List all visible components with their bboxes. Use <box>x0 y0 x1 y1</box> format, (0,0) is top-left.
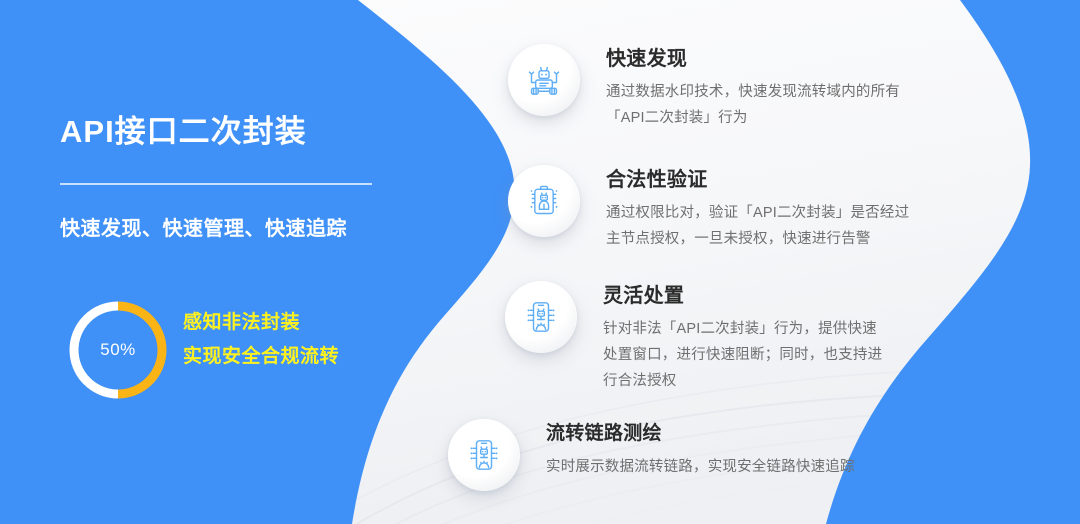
feature-desc-line: 行合法授权 <box>603 368 882 394</box>
feature-body: 快速发现 通过数据水印技术，快速发现流转域内的所有 「API二次封装」行为 <box>606 44 900 131</box>
feature-item[interactable]: 灵活处置 针对非法「API二次封装」行为，提供快速 处置窗口，进行快速阻断；同时… <box>505 281 882 394</box>
clipboard-robot-icon <box>508 165 580 237</box>
feature-desc-line: 通过权限比对，验证「API二次封装」是否经过 <box>606 200 909 226</box>
feature-item[interactable]: 流转链路测绘 实时展示数据流转链路，实现安全链路快速追踪 <box>448 419 855 491</box>
feature-desc-line: 实时展示数据流转链路，实现安全链路快速追踪 <box>546 454 855 480</box>
device-robot-link-icon <box>448 419 520 491</box>
feature-desc: 通过数据水印技术，快速发现流转域内的所有 「API二次封装」行为 <box>606 79 900 131</box>
device-robot-gear-icon <box>505 281 577 353</box>
feature-body: 流转链路测绘 实时展示数据流转链路，实现安全链路快速追踪 <box>546 419 855 480</box>
feature-title: 快速发现 <box>606 46 900 72</box>
feature-desc: 针对非法「API二次封装」行为，提供快速 处置窗口，进行快速阻断；同时，也支持进… <box>603 316 882 394</box>
slide-root: API接口二次封装 快速发现、快速管理、快速追踪 50% 感知非法封装 实现安全… <box>0 0 1080 524</box>
feature-desc-line: 「API二次封装」行为 <box>606 105 900 131</box>
feature-desc-line: 处置窗口，进行快速阻断；同时，也支持进 <box>603 342 882 368</box>
feature-title: 流转链路测绘 <box>546 421 855 447</box>
feature-title: 灵活处置 <box>603 283 882 309</box>
feature-desc: 通过权限比对，验证「API二次封装」是否经过 主节点授权，一旦未授权，快速进行告… <box>606 200 909 252</box>
feature-body: 灵活处置 针对非法「API二次封装」行为，提供快速 处置窗口，进行快速阻断；同时… <box>603 281 882 394</box>
feature-item[interactable]: 合法性验证 通过权限比对，验证「API二次封装」是否经过 主节点授权，一旦未授权… <box>508 165 909 252</box>
robot-rover-icon <box>508 44 580 116</box>
feature-desc-line: 主节点授权，一旦未授权，快速进行告警 <box>606 226 909 252</box>
feature-desc: 实时展示数据流转链路，实现安全链路快速追踪 <box>546 454 855 480</box>
feature-desc-line: 针对非法「API二次封装」行为，提供快速 <box>603 316 882 342</box>
feature-list: 快速发现 通过数据水印技术，快速发现流转域内的所有 「API二次封装」行为 <box>0 0 1080 524</box>
feature-title: 合法性验证 <box>606 167 909 193</box>
feature-item[interactable]: 快速发现 通过数据水印技术，快速发现流转域内的所有 「API二次封装」行为 <box>508 44 900 131</box>
feature-body: 合法性验证 通过权限比对，验证「API二次封装」是否经过 主节点授权，一旦未授权… <box>606 165 909 252</box>
feature-desc-line: 通过数据水印技术，快速发现流转域内的所有 <box>606 79 900 105</box>
